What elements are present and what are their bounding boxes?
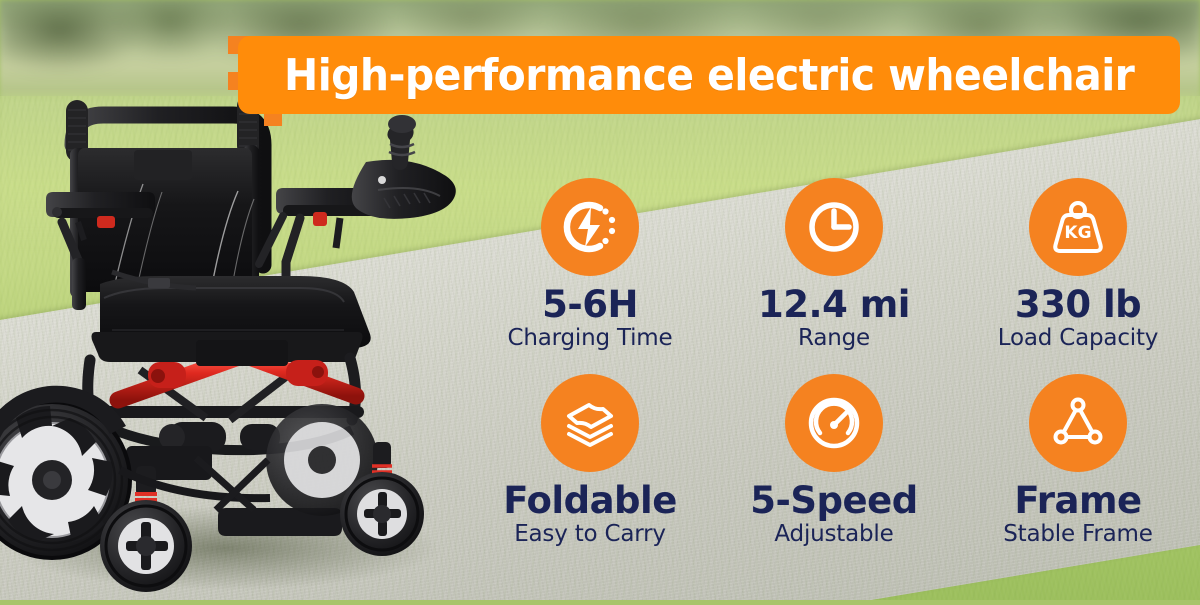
- feature-value: 12.4 mi: [758, 286, 910, 324]
- clock-icon-badge: [785, 178, 883, 276]
- feature-label: Charging Time: [508, 325, 673, 351]
- feature-value: Foldable: [503, 482, 677, 520]
- charging-bolt-icon-badge: [541, 178, 639, 276]
- triangle-frame-icon: [1047, 392, 1109, 454]
- feature-grid: 5-6H Charging Time 12.4 mi Range KG: [468, 178, 1200, 578]
- speedometer-icon: [803, 392, 865, 454]
- feature-label: Range: [798, 325, 870, 351]
- speedometer-icon-badge: [785, 374, 883, 472]
- feature-label: Stable Frame: [1003, 521, 1152, 547]
- feature-value: 5-6H: [542, 286, 638, 324]
- banner-title-text: High-performance electric wheelchair: [284, 50, 1134, 101]
- title-banner: High-performance electric wheelchair: [228, 36, 1180, 136]
- feature-load-capacity: KG 330 lb Load Capacity: [956, 178, 1200, 368]
- folded-layers-icon: [559, 392, 621, 454]
- feature-row-1: 5-6H Charging Time 12.4 mi Range KG: [468, 178, 1200, 368]
- kg-label: KG: [1064, 223, 1091, 243]
- feature-value: 5-Speed: [750, 482, 917, 520]
- feature-value: 330 lb: [1015, 286, 1141, 324]
- feature-label: Load Capacity: [998, 325, 1158, 351]
- feature-speed: 5-Speed Adjustable: [712, 374, 956, 564]
- triangle-frame-icon-badge: [1029, 374, 1127, 472]
- feature-foldable: Foldable Easy to Carry: [468, 374, 712, 564]
- clock-icon: [804, 197, 864, 257]
- weight-kg-icon: KG: [1047, 196, 1109, 258]
- feature-frame: Frame Stable Frame: [956, 374, 1200, 564]
- banner-background: High-performance electric wheelchair: [238, 36, 1180, 114]
- charging-bolt-icon: [560, 197, 620, 257]
- folded-layers-icon-badge: [541, 374, 639, 472]
- feature-charging-time: 5-6H Charging Time: [468, 178, 712, 368]
- feature-label: Easy to Carry: [514, 521, 666, 547]
- feature-label: Adjustable: [774, 521, 893, 547]
- feature-range: 12.4 mi Range: [712, 178, 956, 368]
- feature-row-2: Foldable Easy to Carry 5-Speed Adjustabl…: [468, 374, 1200, 564]
- feature-value: Frame: [1014, 482, 1141, 520]
- weight-kg-icon-badge: KG: [1029, 178, 1127, 276]
